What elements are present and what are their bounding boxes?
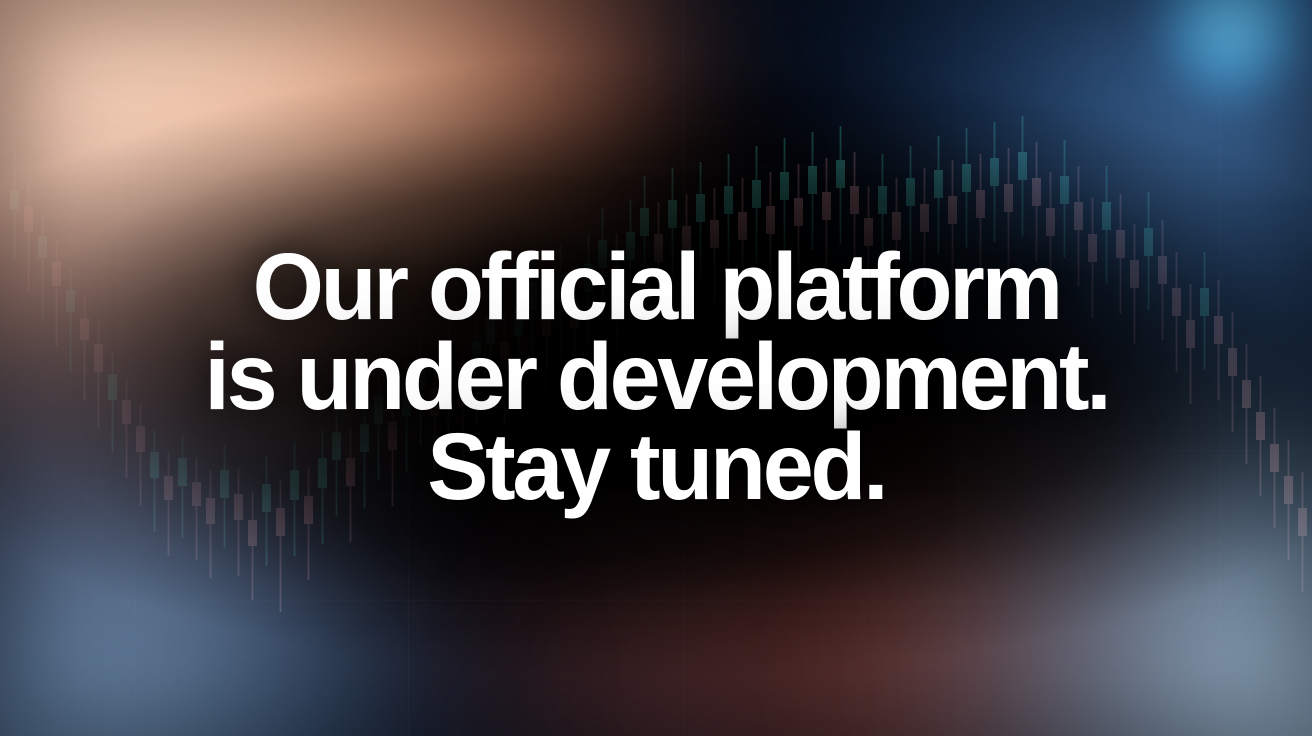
headline-line-2: is under development. <box>204 332 1108 422</box>
promo-banner: Our official platform is under developme… <box>0 0 1312 736</box>
headline-block: Our official platform is under developme… <box>0 0 1312 736</box>
headline-line-1: Our official platform <box>252 242 1059 332</box>
headline-line-3: Stay tuned. <box>427 422 885 512</box>
